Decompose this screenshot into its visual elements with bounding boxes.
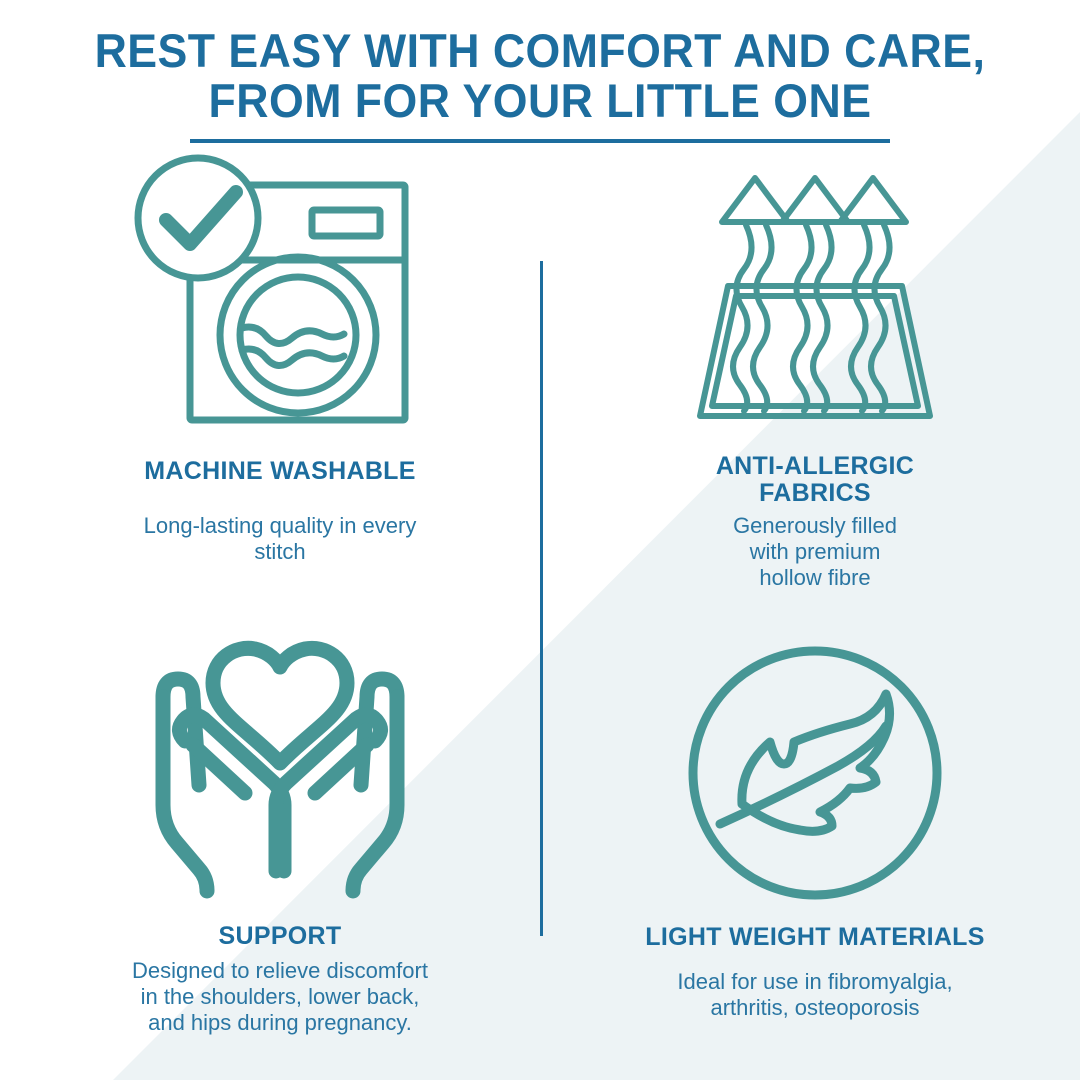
icon-container [590, 178, 1040, 440]
feature-heading: SUPPORT [55, 923, 505, 950]
feature-description: Long-lasting quality in every stitch [55, 513, 505, 565]
feature-heading: LIGHT WEIGHT MATERIALS [590, 924, 1040, 951]
feature-description: Ideal for use in fibromyalgia, arthritis… [590, 969, 1040, 1021]
feature-light-weight-materials: LIGHT WEIGHT MATERIALS Ideal for use in … [590, 642, 1040, 1021]
vertical-divider [540, 261, 543, 936]
washing-machine-check-icon [130, 150, 430, 440]
infographic-page: REST EASY WITH COMFORT AND CARE, FROM FO… [0, 0, 1080, 1080]
feather-in-circle-icon [684, 642, 946, 904]
icon-container [55, 635, 505, 903]
breathable-fabric-arrows-icon [684, 170, 946, 440]
header: REST EASY WITH COMFORT AND CARE, FROM FO… [0, 26, 1080, 143]
hands-holding-heart-icon [135, 635, 425, 903]
feature-description: Generously filled with premium hollow fi… [590, 513, 1040, 591]
feature-anti-allergic-fabrics: ANTI-ALLERGIC FABRICS Generously filled … [590, 178, 1040, 591]
icon-container [590, 642, 1040, 904]
feature-heading: MACHINE WASHABLE [55, 458, 505, 485]
feature-support: SUPPORT Designed to relieve discomfort i… [55, 635, 505, 1036]
title-underline [190, 139, 890, 143]
feature-description: Designed to relieve discomfort in the sh… [55, 958, 505, 1036]
icon-container [55, 168, 505, 440]
feature-machine-washable: MACHINE WASHABLE Long-lasting quality in… [55, 168, 505, 565]
page-title: REST EASY WITH COMFORT AND CARE, FROM FO… [27, 26, 1053, 126]
feature-heading: ANTI-ALLERGIC FABRICS [590, 453, 1040, 507]
